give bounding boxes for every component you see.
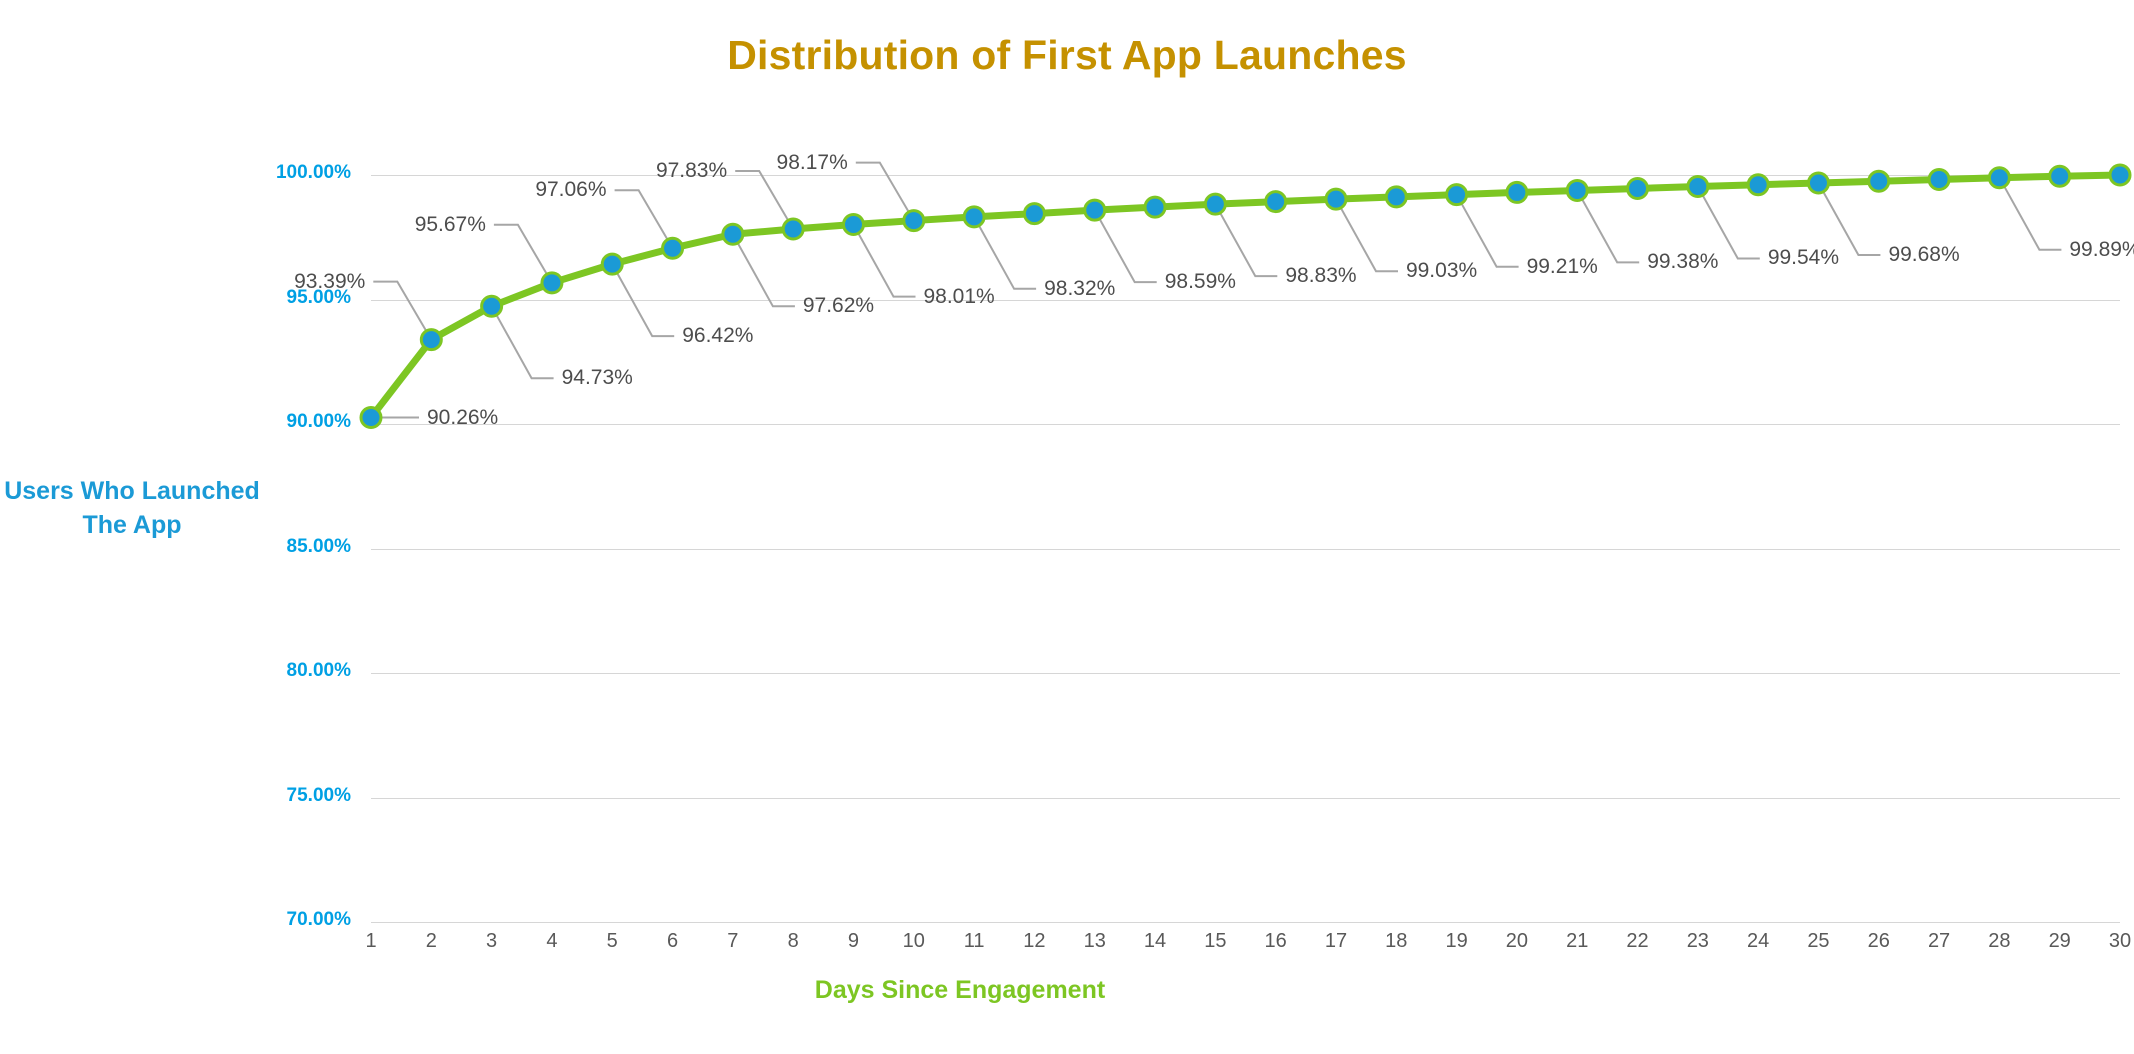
x-tick-label: 4 (522, 930, 582, 953)
x-tick-label: 18 (1366, 930, 1426, 953)
x-tick-label: 25 (1788, 930, 1848, 953)
x-tick-label: 8 (763, 930, 823, 953)
x-axis-title: Days Since Engagement (740, 976, 1180, 1005)
data-label: 98.17% (777, 151, 848, 175)
data-label: 96.42% (682, 324, 753, 348)
x-tick-label: 14 (1125, 930, 1185, 953)
x-tick-label: 29 (2030, 930, 2090, 953)
chart-title: Distribution of First App Launches (0, 32, 2134, 79)
x-tick-label: 28 (1969, 930, 2029, 953)
x-tick-label: 15 (1185, 930, 1245, 953)
y-axis-title-line-1: Users Who Launched (2, 474, 262, 508)
x-tick-label: 2 (401, 930, 461, 953)
data-label: 99.68% (1888, 243, 1959, 267)
y-tick-label: 80.00% (231, 660, 351, 682)
x-tick-label: 16 (1246, 930, 1306, 953)
x-tick-label: 21 (1547, 930, 1607, 953)
x-tick-label: 7 (703, 930, 763, 953)
data-label: 99.38% (1647, 250, 1718, 274)
data-label: 98.32% (1044, 277, 1115, 301)
x-tick-label: 3 (462, 930, 522, 953)
y-axis-title: Users Who Launched The App (2, 474, 262, 542)
data-label: 97.06% (535, 178, 606, 202)
x-tick-label: 5 (582, 930, 642, 953)
x-axis-ticks: 1234567891011121314151617181920212223242… (371, 930, 2120, 970)
data-label: 97.83% (656, 159, 727, 183)
x-tick-label: 20 (1487, 930, 1547, 953)
x-tick-label: 24 (1728, 930, 1788, 953)
gridline (371, 922, 2120, 923)
x-tick-label: 12 (1004, 930, 1064, 953)
y-axis-title-line-2: The App (2, 508, 262, 542)
x-tick-label: 26 (1849, 930, 1909, 953)
data-label: 99.03% (1406, 259, 1477, 283)
data-label: 98.01% (923, 285, 994, 309)
data-label: 97.62% (803, 294, 874, 318)
x-tick-label: 13 (1065, 930, 1125, 953)
y-tick-label: 100.00% (231, 162, 351, 184)
data-label: 99.54% (1768, 246, 1839, 270)
x-tick-label: 10 (884, 930, 944, 953)
x-tick-label: 6 (643, 930, 703, 953)
y-tick-label: 90.00% (231, 411, 351, 433)
data-label: 95.67% (415, 213, 486, 237)
x-tick-label: 11 (944, 930, 1004, 953)
y-tick-label: 70.00% (231, 909, 351, 931)
data-label: 98.59% (1165, 270, 1236, 294)
data-labels: 90.26%93.39%94.73%95.67%96.42%97.06%97.6… (371, 175, 2120, 922)
chart-container: Distribution of First App Launches Users… (0, 0, 2134, 1054)
x-tick-label: 22 (1608, 930, 1668, 953)
y-tick-label: 85.00% (231, 536, 351, 558)
data-label: 99.89% (2069, 238, 2134, 262)
x-tick-label: 17 (1306, 930, 1366, 953)
x-tick-label: 1 (341, 930, 401, 953)
data-label: 90.26% (427, 406, 498, 430)
x-tick-label: 27 (1909, 930, 1969, 953)
data-label: 99.21% (1527, 255, 1598, 279)
x-tick-label: 9 (823, 930, 883, 953)
x-tick-label: 23 (1668, 930, 1728, 953)
data-label: 98.83% (1285, 264, 1356, 288)
data-label: 94.73% (562, 366, 633, 390)
x-tick-label: 19 (1427, 930, 1487, 953)
x-tick-label: 30 (2090, 930, 2134, 953)
data-label: 93.39% (294, 270, 365, 294)
y-tick-label: 75.00% (231, 785, 351, 807)
